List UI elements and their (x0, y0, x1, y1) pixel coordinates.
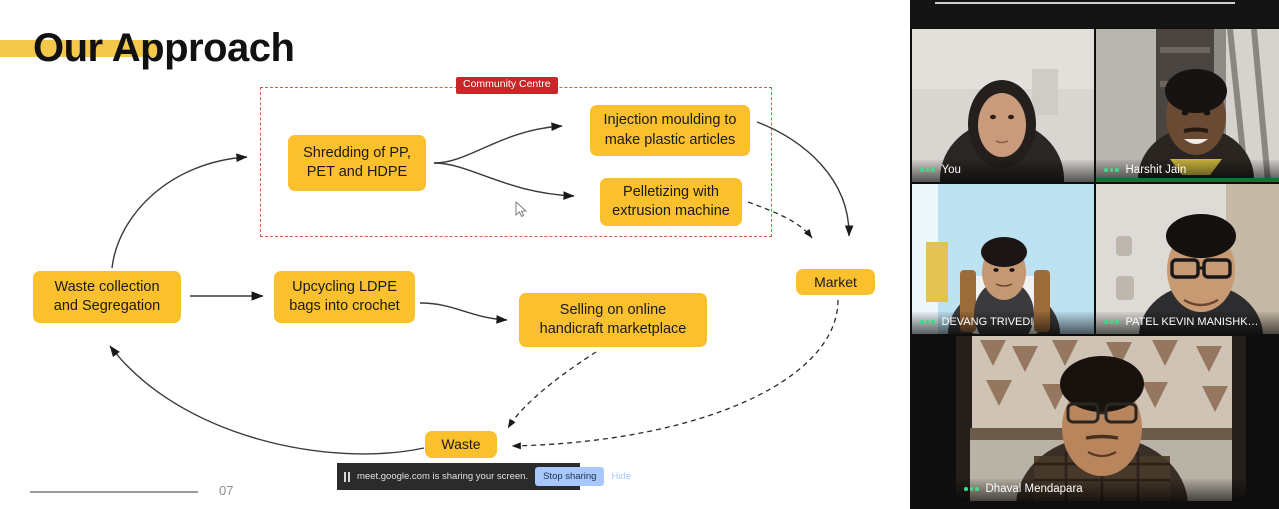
participant-name: PATEL KEVIN MANISHK… (1126, 316, 1259, 328)
participant-namebar: DEVANG TRIVEDI (912, 312, 1094, 334)
mic-activity-icon (1104, 320, 1119, 324)
participant-namebar: Dhaval Mendapara (956, 479, 1246, 501)
mic-activity-icon (920, 168, 935, 172)
footer-divider (30, 491, 198, 493)
participant-tile[interactable]: You (912, 29, 1094, 182)
participant-name: Dhaval Mendapara (986, 483, 1083, 495)
participant-namebar: PATEL KEVIN MANISHK… (1096, 312, 1279, 334)
node-selling-online[interactable]: Selling on online handicraft marketplace (519, 293, 707, 347)
mic-activity-icon (1104, 168, 1119, 172)
participant-namebar: You (912, 160, 1094, 182)
share-status-text: meet.google.com is sharing your screen. (357, 471, 528, 482)
pause-icon (344, 472, 350, 482)
node-injection-moulding[interactable]: Injection moulding to make plastic artic… (590, 105, 750, 156)
screen-share-bar: meet.google.com is sharing your screen. … (337, 463, 580, 490)
node-pelletizing[interactable]: Pelletizing with extrusion machine (600, 178, 742, 226)
node-waste-collection[interactable]: Waste collection and Segregation (33, 271, 181, 323)
participant-tile[interactable]: PATEL KEVIN MANISHK… (1096, 184, 1279, 334)
panel-topbar-line (935, 2, 1235, 4)
page-number: 07 (219, 483, 233, 498)
node-shredding[interactable]: Shredding of PP, PET and HDPE (288, 135, 426, 191)
participant-name: You (942, 164, 961, 176)
participant-name: Harshit Jain (1126, 164, 1187, 176)
mic-activity-icon (964, 487, 979, 491)
mouse-cursor-icon (515, 201, 529, 219)
speaking-indicator (1096, 178, 1279, 182)
participant-tile[interactable]: Harshit Jain (1096, 29, 1279, 182)
mic-activity-icon (920, 320, 935, 324)
screen-share-meeting-view: Our Approach Community Centre (0, 0, 1279, 509)
hide-button[interactable]: Hide (611, 471, 633, 482)
node-upcycling[interactable]: Upcycling LDPE bags into crochet (274, 271, 415, 323)
stop-sharing-button[interactable]: Stop sharing (535, 467, 604, 486)
participant-name: DEVANG TRIVEDI (942, 316, 1034, 328)
shared-slide: Our Approach Community Centre (0, 0, 910, 509)
video-feed (956, 336, 1246, 501)
panel-topbar (910, 0, 1279, 28)
node-market[interactable]: Market (796, 269, 875, 295)
participant-tile[interactable]: DEVANG TRIVEDI (912, 184, 1094, 334)
participant-tile[interactable]: Dhaval Mendapara (956, 336, 1246, 501)
node-waste[interactable]: Waste (425, 431, 497, 458)
